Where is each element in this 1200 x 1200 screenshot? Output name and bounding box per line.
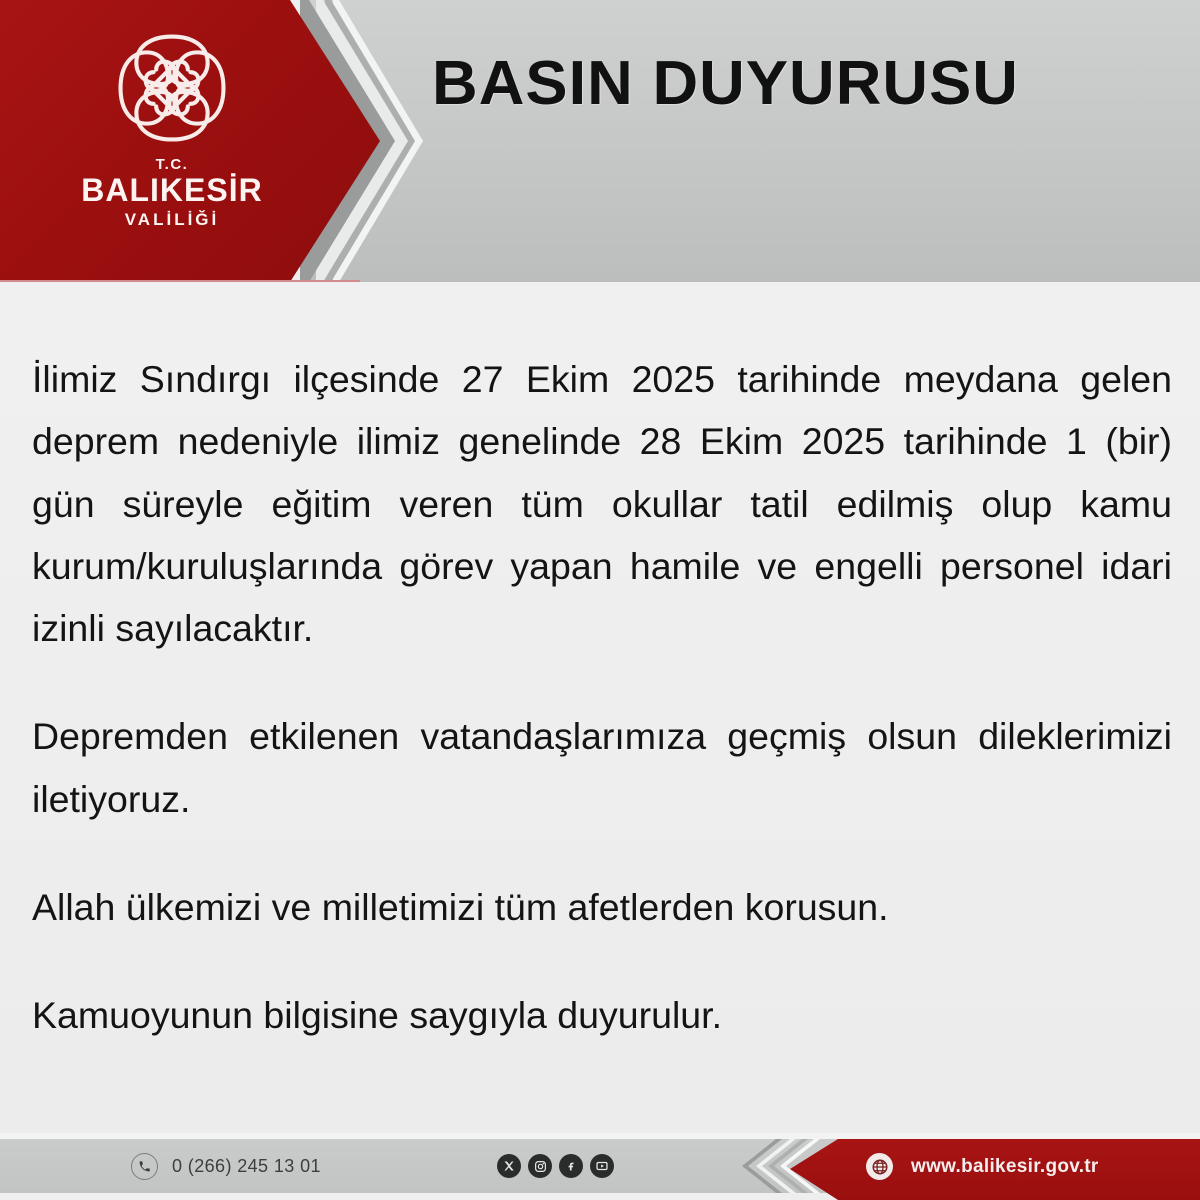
logo-city-label: BALIKESİR (58, 174, 286, 208)
poster-footer: 0 (266) 245 13 01 (0, 1139, 1200, 1200)
balikesir-knot-emblem-icon (58, 22, 286, 154)
header-hairline (0, 280, 360, 282)
paragraph-public-notice: Kamuoyunun bilgisine saygıyla duyurulur. (32, 984, 1172, 1046)
paragraph-condolences: Depremden etkilenen vatandaşlarımıza geç… (32, 705, 1172, 830)
contact-phone[interactable]: 0 (266) 245 13 01 (131, 1153, 321, 1180)
instagram-icon[interactable] (528, 1154, 552, 1178)
press-release-poster: T.C. BALIKESİR VALİLİĞİ BASIN DUYURUSU İ… (0, 0, 1200, 1200)
logo-office-label: VALİLİĞİ (58, 210, 286, 230)
phone-icon (131, 1153, 158, 1180)
footer-bottom-separator (0, 1193, 790, 1200)
poster-header: T.C. BALIKESİR VALİLİĞİ BASIN DUYURUSU (0, 0, 1200, 282)
facebook-icon[interactable] (559, 1154, 583, 1178)
page-title: BASIN DUYURUSU (432, 48, 1019, 119)
footer-grey-band (0, 1139, 850, 1193)
paragraph-prayer: Allah ülkemizi ve milletimizi tüm afetle… (32, 876, 1172, 938)
website-link[interactable]: www.balikesir.gov.tr (866, 1153, 1099, 1180)
paragraph-earthquake-notice: İlimiz Sındırgı ilçesinde 27 Ekim 2025 t… (32, 348, 1172, 659)
globe-icon (866, 1153, 893, 1180)
social-links (497, 1154, 614, 1178)
x-twitter-icon[interactable] (497, 1154, 521, 1178)
announcement-body: İlimiz Sındırgı ilçesinde 27 Ekim 2025 t… (32, 348, 1172, 1046)
youtube-icon[interactable] (590, 1154, 614, 1178)
logo-tc-label: T.C. (58, 156, 286, 173)
footer-top-separator (0, 1133, 1200, 1139)
balikesir-valiligi-logo: T.C. BALIKESİR VALİLİĞİ (58, 22, 286, 230)
header-grey-band (300, 0, 1200, 282)
phone-number: 0 (266) 245 13 01 (172, 1156, 321, 1177)
website-url: www.balikesir.gov.tr (911, 1156, 1099, 1178)
